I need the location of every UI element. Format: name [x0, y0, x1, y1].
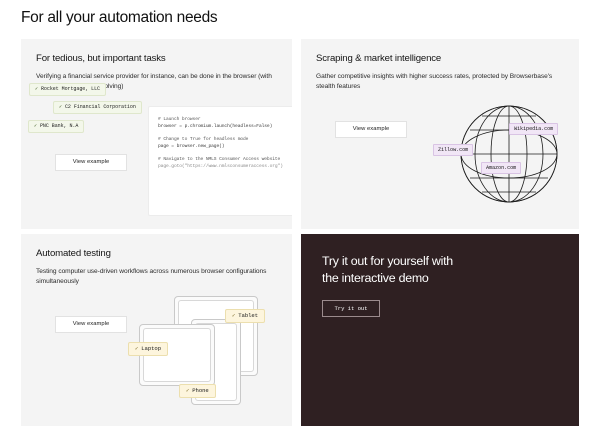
card-tedious-title: For tedious, but important tasks	[36, 53, 277, 65]
suggestion-chip-pnc-bank[interactable]: ✓ PNC Bank, N.A	[28, 120, 84, 133]
site-chip-wikipedia[interactable]: Wikipedia.com	[509, 123, 558, 135]
device-chip-tablet[interactable]: ✓ Tablet	[225, 309, 265, 323]
device-chip-laptop[interactable]: ✓ Laptop	[128, 342, 168, 356]
suggestion-chip-rocket-mortgage[interactable]: ✓ Rocket Mortgage, LLC	[29, 83, 106, 96]
code-line: browser = p.chromium.launch(headless=Fal…	[158, 123, 290, 131]
check-icon: ✓	[35, 86, 38, 92]
code-panel-tedious: # Launch browser browser = p.chromium.la…	[148, 106, 292, 216]
card-scraping-intelligence: Scraping & market intelligence Gather co…	[301, 39, 579, 229]
card-testing-description: Testing computer use-driven workflows ac…	[36, 267, 276, 287]
cta-title-line-1: Try it out for yourself with	[322, 253, 558, 270]
code-line: # Launch browser	[158, 116, 290, 124]
device-chip-label: Tablet	[238, 312, 258, 319]
device-chip-label: Laptop	[141, 345, 161, 352]
site-chip-amazon[interactable]: Amazon.com	[481, 162, 521, 174]
check-icon: ✓	[59, 104, 62, 110]
cta-title: Try it out for yourself with the interac…	[301, 234, 579, 287]
cards-grid: For tedious, but important tasks Verifyi…	[21, 39, 579, 426]
code-line: page = browser.new_page()	[158, 143, 290, 151]
check-icon: ✓	[34, 123, 37, 129]
cta-title-line-2: the interactive demo	[322, 270, 558, 287]
globe-illustration: Wikipedia.com Zillow.com Amazon.com	[449, 96, 579, 216]
page-root: For all your automation needs For tediou…	[0, 0, 600, 440]
check-icon: ✓	[232, 313, 235, 319]
suggestion-chip-label: PNC Bank, N.A	[40, 123, 78, 129]
check-icon: ✓	[135, 346, 138, 352]
card-scraping-description: Gather competitive insights with higher …	[316, 72, 556, 92]
code-line: page.goto("https://www.nmlsconsumeracces…	[158, 163, 290, 171]
card-testing-title: Automated testing	[36, 248, 277, 260]
code-line: # Navigate to the NMLS Consumer Access w…	[158, 156, 290, 164]
suggestion-chip-label: Rocket Mortgage, LLC	[41, 86, 100, 92]
device-mockups: ✓ Tablet ✓ Laptop ✓ Phone	[131, 294, 292, 419]
code-line: # Change to True for headless mode	[158, 136, 290, 144]
card-scraping-header: Scraping & market intelligence Gather co…	[301, 39, 579, 92]
page-title: For all your automation needs	[21, 0, 579, 39]
view-example-button-scraping[interactable]: View example	[335, 121, 407, 138]
device-chip-phone[interactable]: ✓ Phone	[179, 384, 216, 398]
card-scraping-title: Scraping & market intelligence	[316, 53, 564, 65]
device-chip-label: Phone	[192, 387, 209, 394]
suggestion-chip-label: C2 Financial Corporation	[65, 104, 136, 110]
card-interactive-demo-cta: Try it out for yourself with the interac…	[301, 234, 579, 426]
check-icon: ✓	[186, 388, 189, 394]
card-testing-header: Automated testing Testing computer use-d…	[21, 234, 292, 287]
card-automated-testing: Automated testing Testing computer use-d…	[21, 234, 292, 426]
view-example-button-tedious[interactable]: View example	[55, 154, 127, 171]
card-tedious-tasks: For tedious, but important tasks Verifyi…	[21, 39, 292, 229]
view-example-button-testing[interactable]: View example	[55, 316, 127, 333]
try-it-out-button[interactable]: Try it out	[322, 300, 380, 317]
suggestion-chip-c2-financial[interactable]: ✓ C2 Financial Corporation	[53, 101, 142, 114]
site-chip-zillow[interactable]: Zillow.com	[433, 144, 473, 156]
